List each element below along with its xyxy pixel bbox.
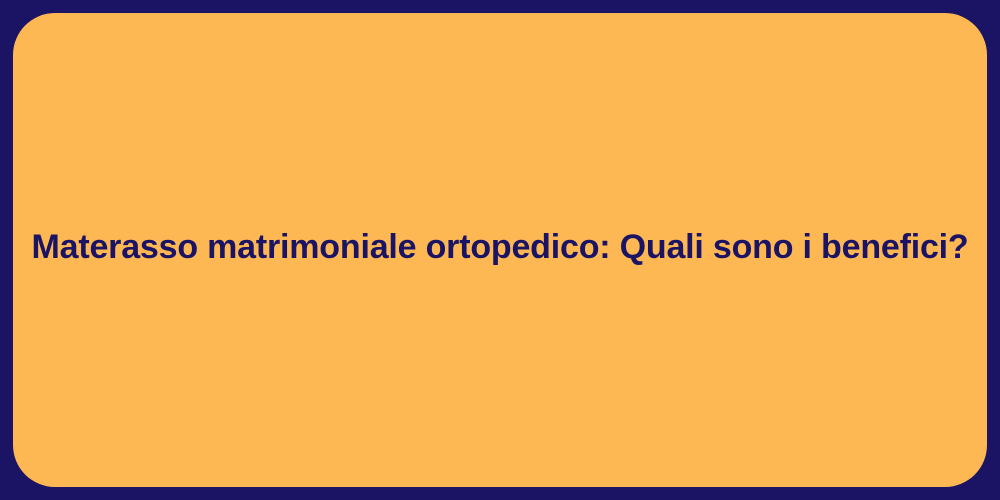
- hero-card: Materasso matrimoniale ortopedico: Quali…: [13, 13, 987, 487]
- page-frame: Materasso matrimoniale ortopedico: Quali…: [0, 0, 1000, 500]
- page-title: Materasso matrimoniale ortopedico: Quali…: [32, 226, 969, 269]
